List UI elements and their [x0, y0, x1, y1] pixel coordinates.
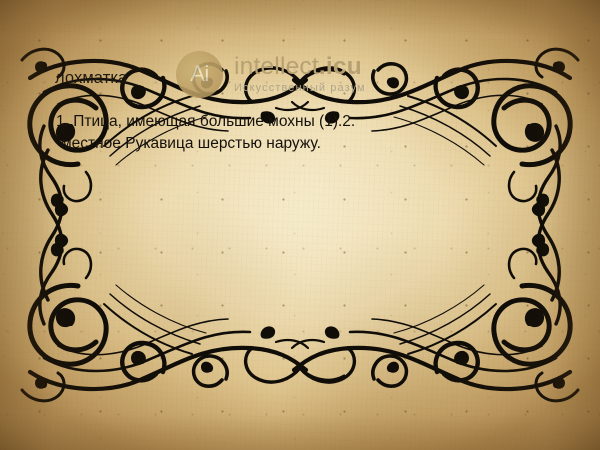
parchment-page: Ai intellect.icu Искусственный разум лох… [0, 0, 600, 450]
parchment-vignette [0, 0, 600, 450]
